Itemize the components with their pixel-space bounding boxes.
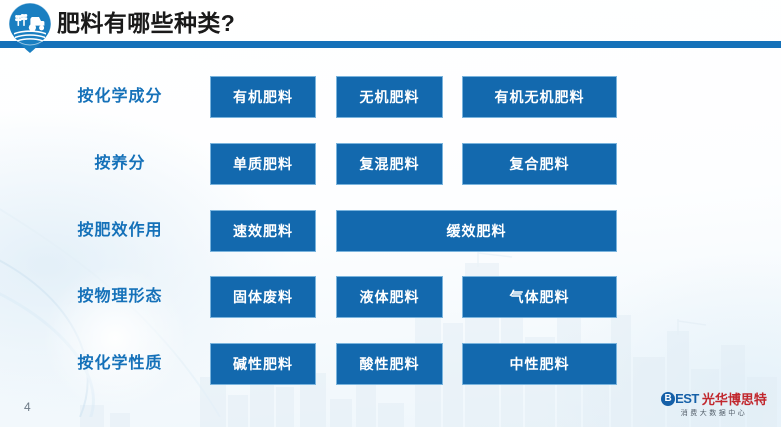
cell-compound-fertilizer[interactable]: 复合肥料	[462, 143, 617, 185]
table-row: 按化学性质 碱性肥料 酸性肥料 中性肥料	[0, 343, 781, 385]
cell-gaseous-fertilizer[interactable]: 气体肥料	[462, 276, 617, 318]
slide-root: 肥料有哪些种类? 按化学成分 有机肥料 无机肥料 有机无机肥料 按养分 单质肥料…	[0, 0, 781, 427]
cell-inorganic-fertilizer[interactable]: 无机肥料	[336, 76, 443, 118]
row-label-physical-form: 按物理形态	[40, 276, 200, 318]
brand-logo: B EST 光华博思特 消费大数据中心	[655, 388, 773, 420]
brand-best-mark: B EST	[661, 391, 699, 406]
row-label-chemical-property: 按化学性质	[40, 343, 200, 385]
row-label-nutrient: 按养分	[40, 143, 200, 185]
cell-liquid-fertilizer[interactable]: 液体肥料	[336, 276, 443, 318]
cell-organic-fertilizer[interactable]: 有机肥料	[210, 76, 316, 118]
brand-est-text: EST	[675, 391, 699, 406]
brand-b-badge-icon: B	[661, 392, 675, 406]
cell-solid-fertilizer[interactable]: 固体废料	[210, 276, 316, 318]
cell-quick-acting-fertilizer[interactable]: 速效肥料	[210, 210, 316, 252]
brand-logo-top: B EST 光华博思特	[661, 390, 767, 407]
table-row: 按肥效作用 速效肥料 缓效肥料	[0, 210, 781, 252]
cell-alkaline-fertilizer[interactable]: 碱性肥料	[210, 343, 316, 385]
table-row: 按物理形态 固体废料 液体肥料 气体肥料	[0, 276, 781, 318]
table-row: 按养分 单质肥料 复混肥料 复合肥料	[0, 143, 781, 185]
page-number: 4	[24, 400, 31, 414]
cell-slow-release-fertilizer[interactable]: 缓效肥料	[336, 210, 617, 252]
brand-subtitle: 消费大数据中心	[681, 408, 748, 418]
location-pin-farm-logo-icon	[7, 2, 53, 54]
brand-chinese-name: 光华博思特	[702, 389, 767, 408]
header-accent-bar	[0, 41, 781, 48]
cell-single-nutrient-fertilizer[interactable]: 单质肥料	[210, 143, 316, 185]
cell-acidic-fertilizer[interactable]: 酸性肥料	[336, 343, 443, 385]
table-row: 按化学成分 有机肥料 无机肥料 有机无机肥料	[0, 76, 781, 118]
cell-neutral-fertilizer[interactable]: 中性肥料	[462, 343, 617, 385]
page-title: 肥料有哪些种类?	[57, 8, 235, 38]
row-label-fertilizer-effect: 按肥效作用	[40, 210, 200, 252]
row-label-chemical-composition: 按化学成分	[40, 76, 200, 118]
cell-blended-fertilizer[interactable]: 复混肥料	[336, 143, 443, 185]
cell-organic-inorganic-fertilizer[interactable]: 有机无机肥料	[462, 76, 617, 118]
fertilizer-classification-matrix: 按化学成分 有机肥料 无机肥料 有机无机肥料 按养分 单质肥料 复混肥料 复合肥…	[0, 58, 781, 398]
